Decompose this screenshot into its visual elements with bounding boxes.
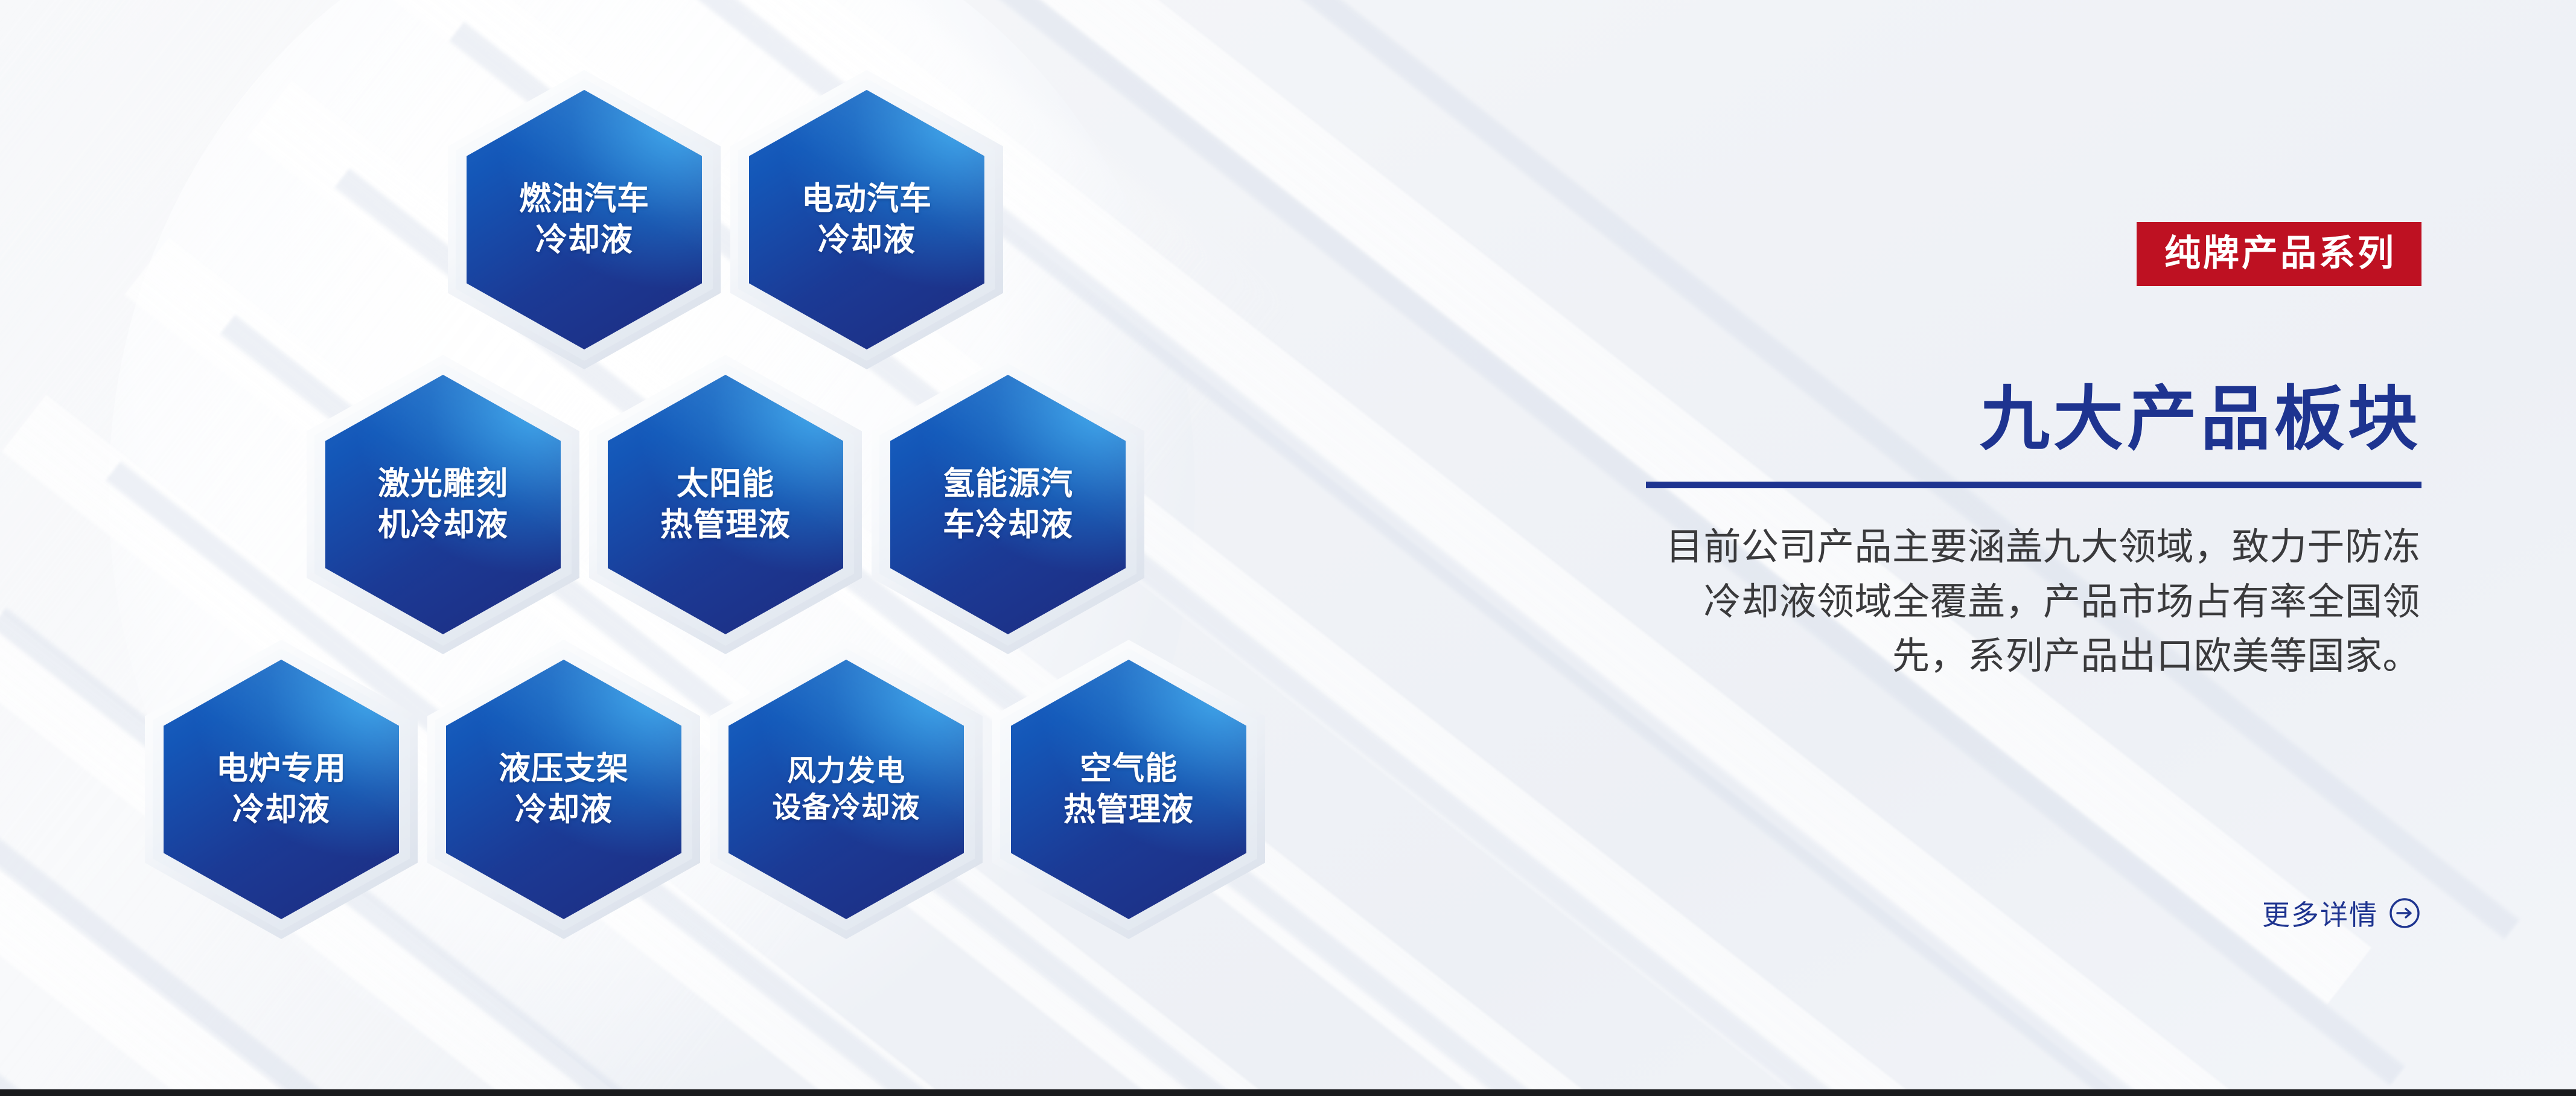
arrow-right-circle-icon xyxy=(2389,897,2420,929)
more-details-link[interactable]: 更多详情 xyxy=(2262,893,2420,933)
hex-electric-vehicle-coolant[interactable]: 电动汽车 冷却液 xyxy=(730,70,1003,369)
hex-hydraulic-support-coolant[interactable]: 液压支架 冷却液 xyxy=(427,640,700,939)
hex-air-energy-thermal-fluid[interactable]: 空气能 热管理液 xyxy=(992,640,1265,939)
hex-label: 空气能 热管理液 xyxy=(1056,748,1201,830)
product-honeycomb: 燃油汽车 冷却液 电动汽车 冷却液 激光雕刻 机冷却液 太阳能 热管理液 氢能源… xyxy=(0,0,1449,1080)
hex-label: 风力发电 设备冷却液 xyxy=(765,753,927,827)
bottom-edge-bar xyxy=(0,1089,2576,1096)
hex-electric-furnace-coolant[interactable]: 电炉专用 冷却液 xyxy=(145,640,418,939)
hex-label: 氢能源汽 车冷却液 xyxy=(936,464,1080,546)
hex-fuel-vehicle-coolant[interactable]: 燃油汽车 冷却液 xyxy=(448,70,721,369)
hex-label: 电动汽车 冷却液 xyxy=(794,179,939,261)
more-details-label: 更多详情 xyxy=(2262,893,2378,933)
status-badge: 纯牌产品系列 xyxy=(2137,222,2421,286)
right-content-panel: 纯牌产品系列 九大产品板块 目前公司产品主要涵盖九大领域，致力于防冻冷却液领域全… xyxy=(1545,0,2426,1096)
title-underline-rule xyxy=(1646,482,2421,488)
hex-label: 液压支架 冷却液 xyxy=(491,748,636,830)
hex-solar-thermal-fluid[interactable]: 太阳能 热管理液 xyxy=(589,355,862,654)
hex-hydrogen-vehicle-coolant[interactable]: 氢能源汽 车冷却液 xyxy=(872,355,1144,654)
hex-wind-power-equipment-coolant[interactable]: 风力发电 设备冷却液 xyxy=(710,640,983,939)
hex-label: 电炉专用 冷却液 xyxy=(209,748,354,830)
hex-laser-engraver-coolant[interactable]: 激光雕刻 机冷却液 xyxy=(307,355,579,654)
hex-label: 太阳能 热管理液 xyxy=(653,464,798,546)
description-paragraph: 目前公司产品主要涵盖九大领域，致力于防冻冷却液领域全覆盖，产品市场占有率全国领先… xyxy=(1642,520,2420,684)
page-title: 九大产品板块 xyxy=(1980,384,2421,454)
hex-label: 燃油汽车 冷却液 xyxy=(512,179,657,261)
hex-label: 激光雕刻 机冷却液 xyxy=(371,464,515,546)
